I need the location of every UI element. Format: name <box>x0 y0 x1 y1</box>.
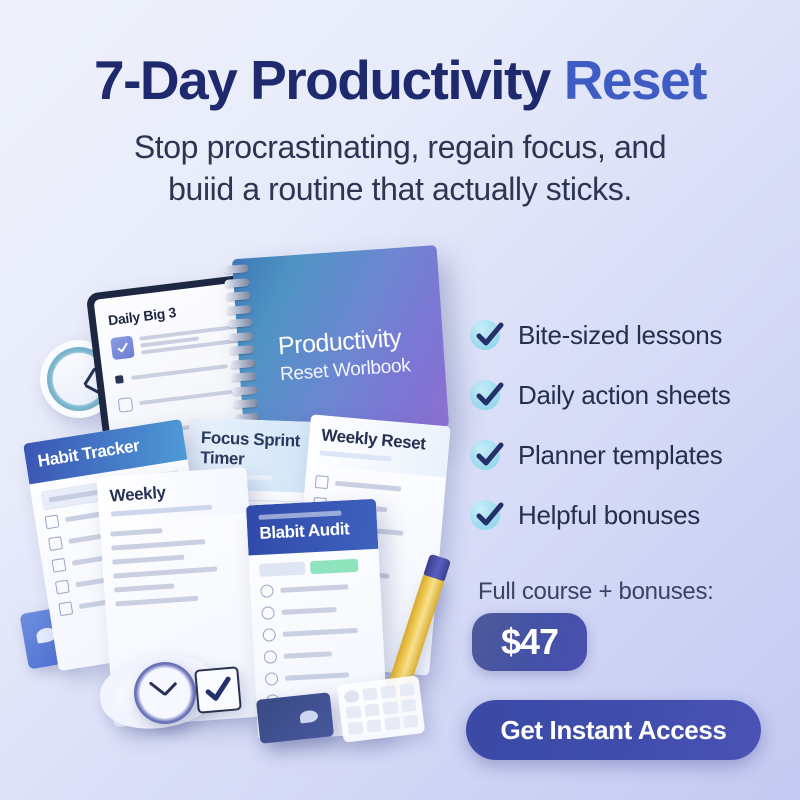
benefit-label: Daily action sheets <box>518 380 731 411</box>
check-circle-icon <box>470 438 504 472</box>
check-circle-icon <box>470 378 504 412</box>
sheet-title: Blabit Audit <box>259 518 366 544</box>
checked-checkbox-icon <box>110 336 135 361</box>
benefit-label: Bite-sized lessons <box>518 320 722 351</box>
sheet-title: Focus Sprint Timer <box>200 428 317 472</box>
hero-header: 7-Day Productivity Reset Stop procrastin… <box>0 52 800 210</box>
benefit-item: Daily action sheets <box>470 365 790 425</box>
check-circle-icon <box>470 498 504 532</box>
subtitle-line-1: Stop procrastinating, regain focus, and <box>0 126 800 168</box>
benefit-label: Helpful bonuses <box>518 500 700 531</box>
price-badge: $47 <box>472 613 587 671</box>
page-title: 7-Day Productivity Reset <box>0 52 800 110</box>
cta-label: Get Instant Access <box>501 715 727 746</box>
page-subtitle: Stop procrastinating, regain focus, and … <box>0 126 800 210</box>
sheet-title: Weekly <box>109 478 236 507</box>
empty-checkbox-icon <box>118 397 134 413</box>
check-circle-icon <box>470 318 504 352</box>
get-instant-access-button[interactable]: Get Instant Access <box>466 700 761 760</box>
benefit-item: Helpful bonuses <box>470 485 790 545</box>
page-title-accent: Reset <box>564 49 706 111</box>
checkbox-tile-icon <box>194 666 242 714</box>
page-title-main: 7-Day Productivity <box>94 49 550 111</box>
workbook-mockup: Productivity Reset Worlbook <box>232 245 449 441</box>
benefit-label: Planner templates <box>518 440 722 471</box>
navy-card-icon <box>256 692 334 743</box>
benefit-item: Bite-sized lessons <box>470 305 790 365</box>
subtitle-line-2: buiid a routine that actually sticks. <box>0 168 800 210</box>
price-label: Full course + bonuses: <box>478 578 714 606</box>
benefit-item: Planner templates <box>470 425 790 485</box>
calendar-card-icon <box>337 675 425 743</box>
price-value: $47 <box>501 621 558 663</box>
benefits-list: Bite-sized lessons Daily action sheets P… <box>470 305 790 545</box>
product-mockup-cluster: Daily Big 3 Prod <box>0 230 470 800</box>
